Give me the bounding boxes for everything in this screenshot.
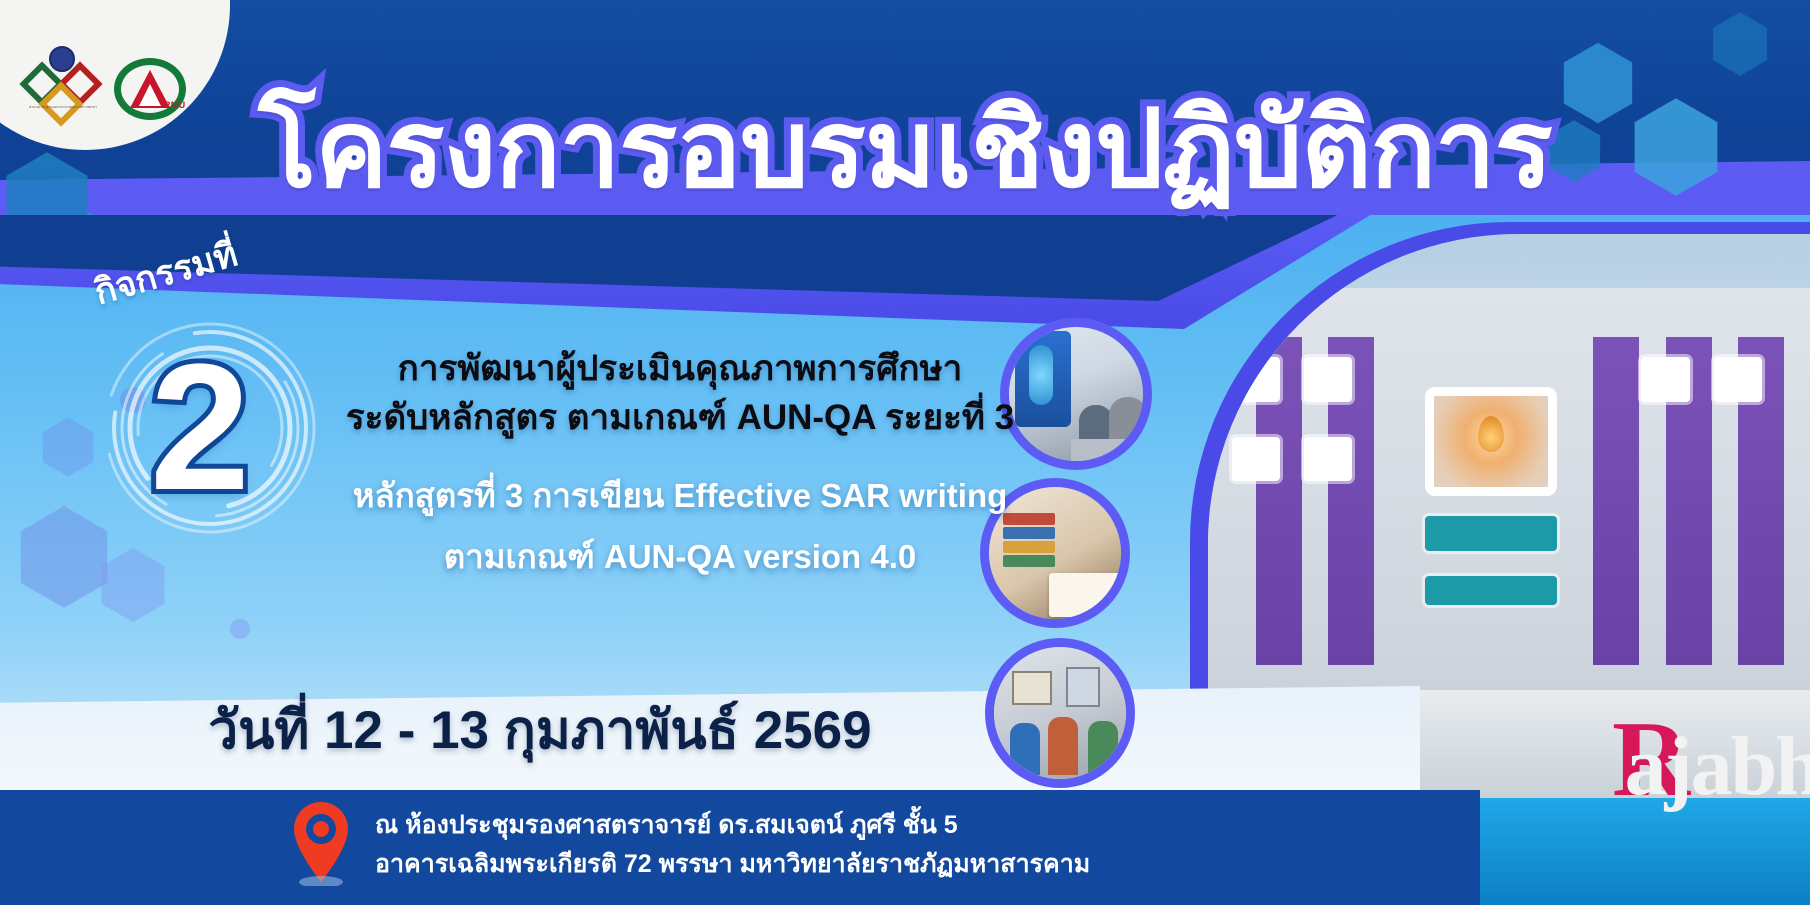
event-date: วันที่ 12 - 13 กุมภาพันธ์ 2569: [0, 704, 1080, 757]
training-banner: โครงการอบรมเชิงปฏิบัติการ: [0, 0, 1810, 905]
building-led-screen: [1425, 387, 1557, 496]
heading-line-1: การพัฒนาผู้ประเมินคุณภาพการศึกษา: [330, 345, 1030, 392]
decor-dot: [230, 619, 250, 639]
course-line-1: หลักสูตรที่ 3 การเขียน Effective SAR wri…: [330, 472, 1030, 520]
hexagon-decor-icon: [98, 545, 168, 625]
activity-badge: กิจกรรมที่ 2: [85, 265, 355, 545]
venue-line-2: อาคารเฉลิมพระเกียรติ 72 พรรษา มหาวิทยาลั…: [375, 845, 1355, 884]
page-title: โครงการอบรมเชิงปฏิบัติการ: [0, 95, 1810, 203]
course-line-2: ตามเกณฑ์ AUN-QA version 4.0: [330, 533, 1030, 581]
hexagon-decor-icon: [1710, 10, 1770, 78]
program-text-block: การพัฒนาผู้ประเมินคุณภาพการศึกษา ระดับหล…: [330, 345, 1030, 581]
location-pin-icon: [290, 800, 352, 886]
rajabhat-sign-word: ajabh: [1625, 729, 1810, 805]
heading-line-2: ระดับหลักสูตร ตามเกณฑ์ AUN-QA ระยะที่ 3: [330, 394, 1030, 441]
venue-address: ณ ห้องประชุมรองศาสตราจารย์ ดร.สมเจตน์ ภู…: [375, 806, 1355, 884]
venue-line-1: ณ ห้องประชุมรองศาสตราจารย์ ดร.สมเจตน์ ภู…: [375, 806, 1355, 845]
activity-number: 2: [85, 313, 315, 543]
